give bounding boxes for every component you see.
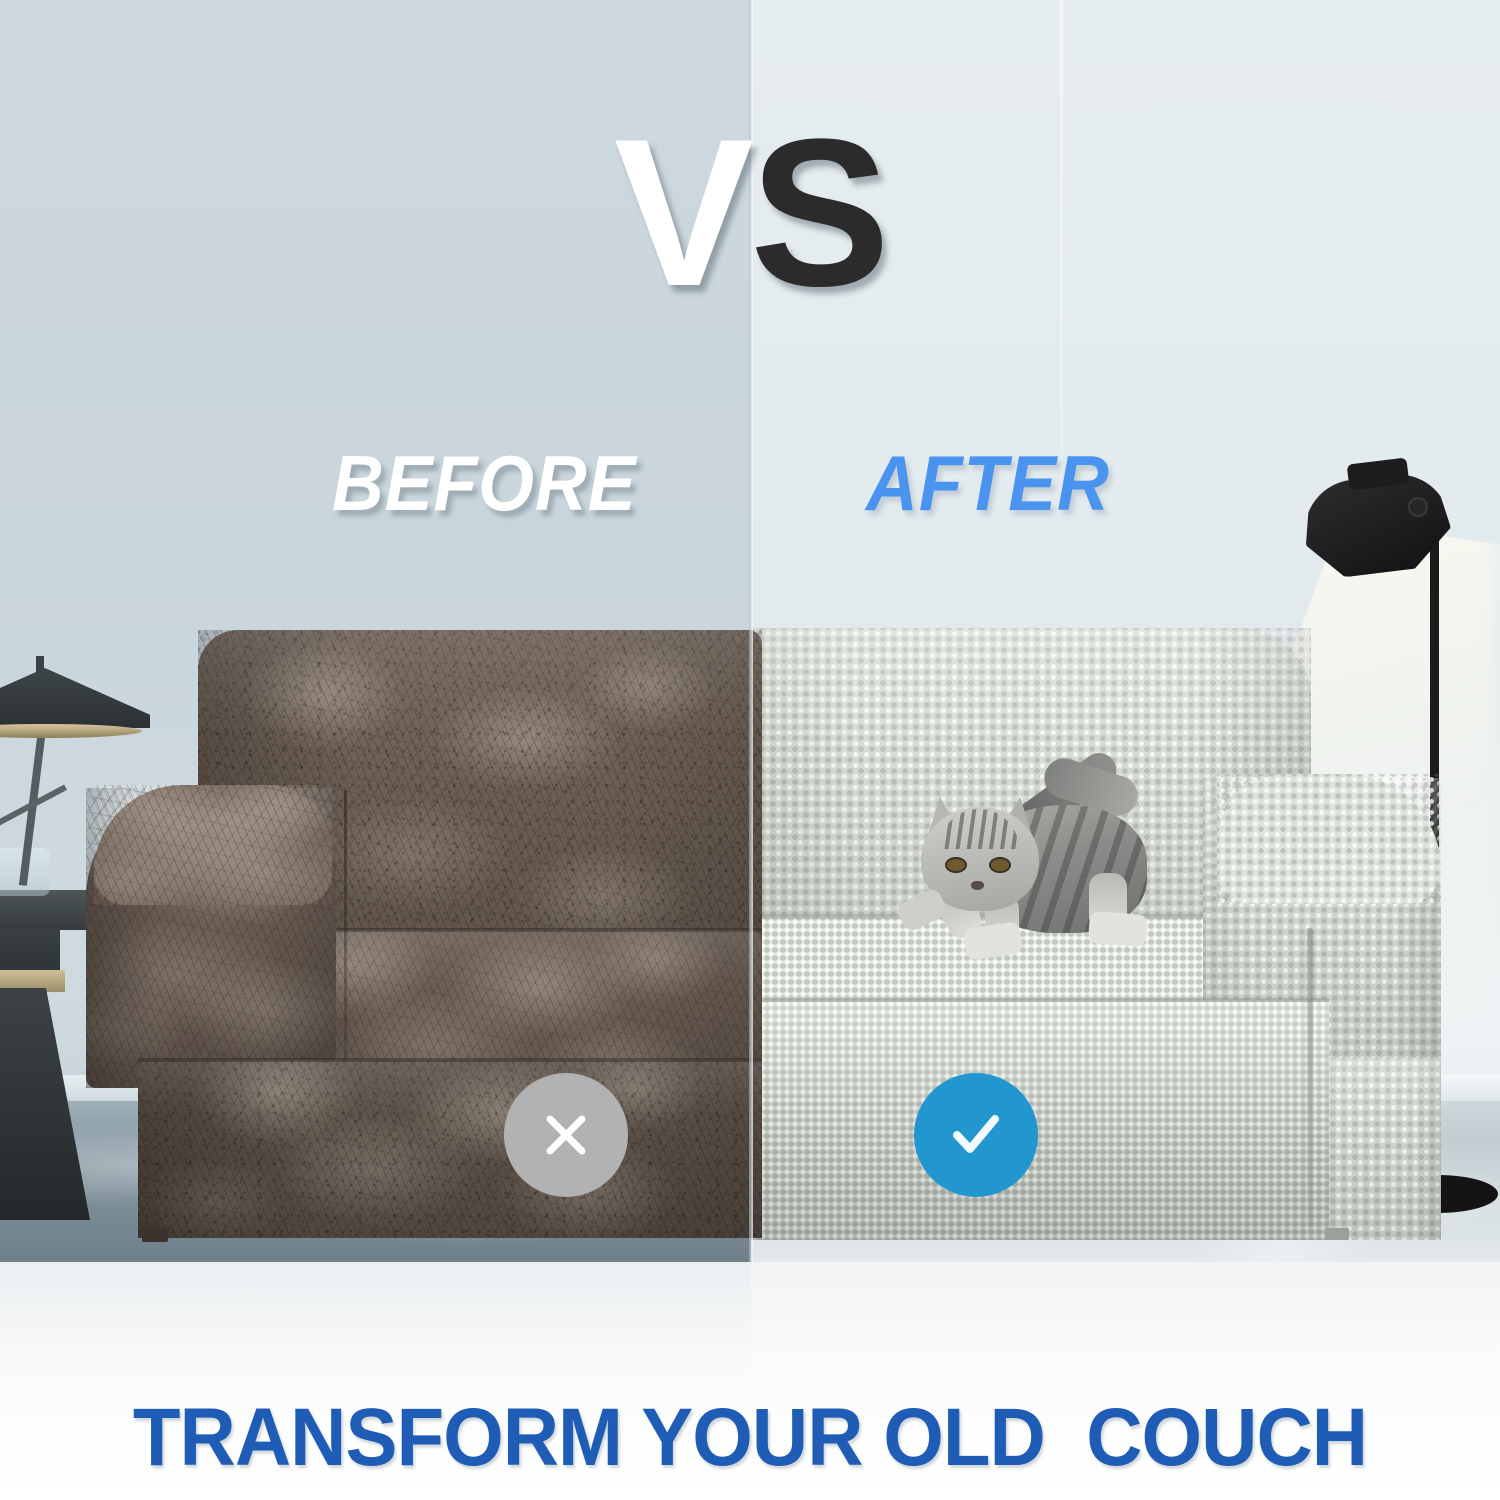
arm-seam bbox=[344, 790, 347, 1090]
kitten-nose bbox=[971, 881, 984, 890]
vs-badge: VS bbox=[0, 118, 1500, 308]
new-sofa-skirt bbox=[1311, 1058, 1441, 1240]
table-lamp-finial bbox=[36, 656, 44, 672]
base-seam bbox=[138, 1058, 762, 1062]
side-table-neck bbox=[0, 928, 60, 976]
shading bbox=[1311, 1058, 1441, 1240]
split-scene: VS BEFORE AFTER bbox=[0, 0, 1500, 1262]
floor-lamp-joint bbox=[1408, 497, 1428, 517]
kitten bbox=[893, 745, 1193, 995]
after-label: AFTER bbox=[866, 444, 1110, 522]
vs-letter-s: S bbox=[750, 95, 886, 330]
old-sofa-arm-top bbox=[94, 785, 332, 905]
wall-seam bbox=[1060, 0, 1063, 640]
worn-brown-sofa bbox=[86, 630, 762, 1238]
front-seam bbox=[751, 998, 1329, 1002]
before-label: BEFORE bbox=[332, 444, 637, 522]
fade-texture bbox=[94, 785, 332, 905]
old-sofa-base bbox=[138, 1060, 762, 1238]
caption-band-left-tint bbox=[0, 1262, 751, 1382]
kitten-eye-left bbox=[945, 857, 967, 873]
vs-letter-v: V bbox=[614, 95, 750, 330]
before-after-product-image: VS BEFORE AFTER TRANSFORM YOUR OLD COUCH bbox=[0, 0, 1500, 1500]
scratch-texture bbox=[94, 785, 332, 905]
old-sofa-leg bbox=[142, 1228, 168, 1242]
new-sofa-leg bbox=[1325, 1228, 1349, 1240]
front-panel-shading bbox=[751, 1000, 1329, 1240]
kitten-paw-front bbox=[963, 921, 1023, 960]
headline: TRANSFORM YOUR OLD COUCH bbox=[38, 1390, 1463, 1486]
x-icon bbox=[504, 1073, 628, 1197]
check-icon bbox=[914, 1073, 1038, 1197]
shading bbox=[138, 1060, 762, 1238]
kitten-paw-hind bbox=[1088, 911, 1148, 947]
cover-crease bbox=[1307, 928, 1313, 1228]
kitten-eye-right bbox=[989, 857, 1011, 873]
